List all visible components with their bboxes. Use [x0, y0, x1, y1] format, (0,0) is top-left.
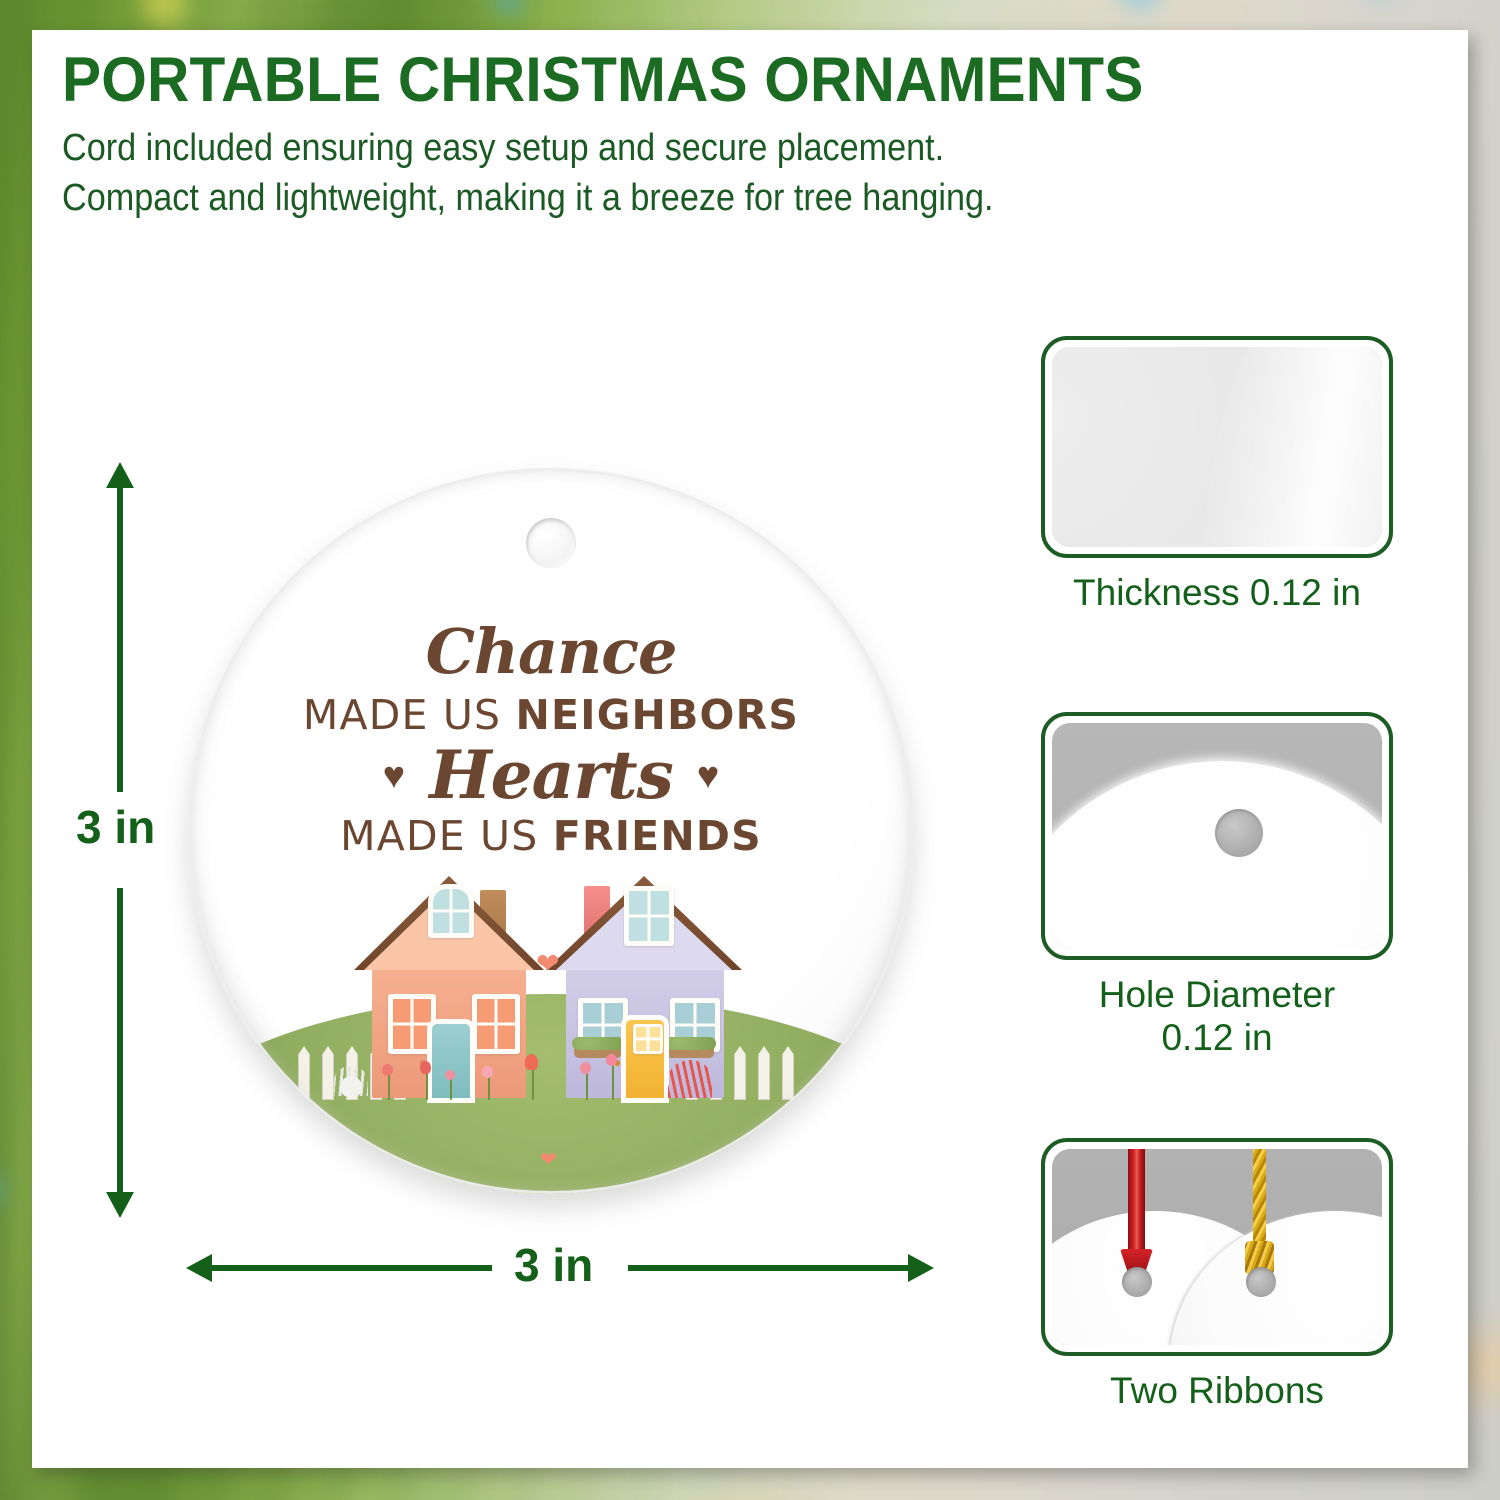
page-title: PORTABLE CHRISTMAS ORNAMENTS — [62, 48, 1327, 112]
feature-card-frame — [1041, 1138, 1393, 1356]
feature-card-frame — [1041, 336, 1393, 558]
ornament-line-4: MADE US FRIENDS — [188, 814, 914, 860]
ornament-edge-icon — [1052, 347, 1382, 547]
ornament-text-block: Chance MADE US NEIGHBORS ♥ Hearts ♥ MADE… — [188, 620, 914, 860]
page-subtitle: Cord included ensuring easy setup and se… — [62, 124, 1286, 223]
house-lavender-icon — [546, 876, 742, 1098]
ornament-line-3: ♥ Hearts ♥ — [188, 741, 914, 810]
red-ribbon-icon — [1128, 1149, 1145, 1261]
heart-icon-left: ♥ — [383, 757, 406, 795]
ornament-line-3-script: Hearts — [429, 741, 673, 810]
subtitle-line-1: Cord included ensuring easy setup and se… — [62, 124, 1286, 173]
ornament-preview: ❤ ❤ Chance MADE US NEIGHBORS — [188, 468, 914, 1216]
hole-closeup-icon — [1052, 723, 1382, 949]
heart-icon-right: ♥ — [697, 757, 720, 795]
heart-icon: ❤ — [536, 947, 559, 980]
ornament-artwork: ❤ ❤ — [188, 864, 914, 1194]
feature-card-hole-diameter: Hole Diameter 0.12 in — [1041, 712, 1393, 1060]
feature-label-thickness: Thickness 0.12 in — [1041, 572, 1393, 615]
subtitle-line-2: Compact and lightweight, making it a bre… — [62, 174, 1286, 223]
ornament-line-4-bold: FRIENDS — [553, 812, 762, 860]
ornament-line-4-light: MADE US — [340, 812, 553, 860]
feature-card-thickness: Thickness 0.12 in — [1041, 336, 1393, 615]
ornament-line-2: MADE US NEIGHBORS — [188, 693, 914, 739]
two-ribbons-icon — [1052, 1149, 1382, 1345]
feature-label-two-ribbons: Two Ribbons — [1041, 1370, 1393, 1413]
feature-label-hole-diameter: Hole Diameter 0.12 in — [1041, 974, 1393, 1060]
house-peach-icon — [354, 876, 544, 1098]
header-block: PORTABLE CHRISTMAS ORNAMENTS Cord includ… — [62, 48, 1422, 223]
feature-label-hole-diameter-line-1: Hole Diameter — [1041, 974, 1393, 1017]
ornament-line-1: Chance — [188, 620, 914, 683]
ornament-line-2-bold: NEIGHBORS — [516, 691, 800, 739]
feature-card-frame — [1041, 712, 1393, 960]
height-dimension-label: 3 in — [76, 800, 155, 854]
feature-label-hole-diameter-line-2: 0.12 in — [1041, 1017, 1393, 1060]
width-dimension-label: 3 in — [514, 1238, 593, 1292]
hanging-hole-icon — [526, 518, 576, 568]
heart-icon: ❤ — [540, 1147, 557, 1172]
ornament-line-2-light: MADE US — [303, 691, 516, 739]
gold-cord-icon — [1253, 1149, 1266, 1251]
feature-card-two-ribbons: Two Ribbons — [1041, 1138, 1393, 1413]
ornament-disc: ❤ ❤ Chance MADE US NEIGHBORS — [188, 468, 914, 1194]
